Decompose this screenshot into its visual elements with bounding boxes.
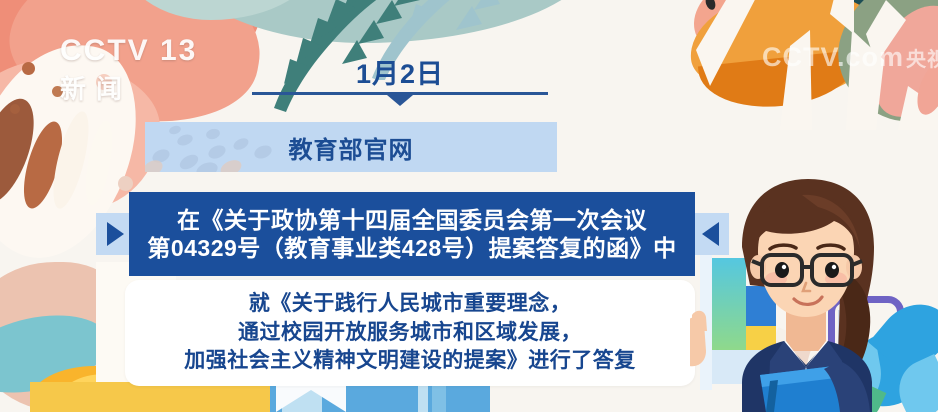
title-banner-line: 第04329号（教育事业类428号）提案答复的函》中 [147,234,676,262]
title-banner: 在《关于政协第十四届全国委员会第一次会议 第04329号（教育事业类428号）提… [129,192,695,276]
eye-highlight-shape [832,265,836,269]
title-banner-line: 在《关于政协第十四届全国委员会第一次会议 [177,206,647,234]
date-header: 1月2日 [252,60,548,95]
date-divider [252,92,548,95]
body-line: 通过校园开放服务城市和区域发展， [238,319,582,347]
eye-highlight-shape [782,265,786,269]
person-illustration [690,175,938,412]
hand-shape [690,311,707,367]
date-text: 1月2日 [252,60,548,88]
arrow-right-marker [96,213,130,255]
source-label: 教育部官网 [289,130,414,165]
news-graphic-canvas: CCTV 13 新闻 CCTV.com央视网 1月2日 [0,0,938,412]
body-line: 就《关于践行人民城市重要理念， [249,290,572,318]
eye-shape [825,262,839,278]
source-band: 教育部官网 [145,122,557,172]
body-line: 加强社会主义精神文明建设的提案》进行了答复 [184,347,636,375]
caret-down-icon [387,95,413,106]
eye-shape [775,262,789,278]
body-card: 就《关于践行人民城市重要理念， 通过校园开放服务城市和区域发展， 加强社会主义精… [125,280,695,386]
triangle-right-icon [107,222,124,246]
